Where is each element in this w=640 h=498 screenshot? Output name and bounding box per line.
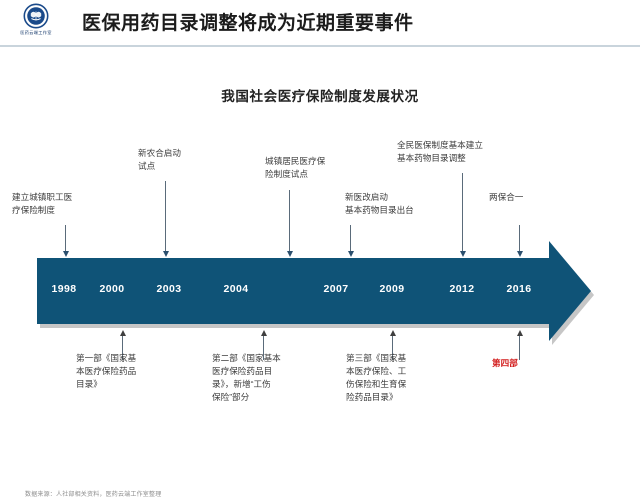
event-above-2016: 两保合一: [489, 191, 559, 204]
event-above-2003: 新农合启动 试点: [138, 147, 234, 173]
source-note: 数据来源：人社部相关资料，医药云端工作室整理: [25, 489, 161, 498]
timeline-arrow-tip: [549, 241, 591, 341]
timeline-year-2009: 2009: [380, 283, 405, 295]
event-arrow-head-2007: [287, 251, 293, 257]
catalog-below-2016: 第四部: [492, 357, 554, 370]
catalog-below-2000: 第一部《国家基 本医疗保险药品 目录》: [76, 352, 176, 391]
brand-logo: 医药云端工作室: [8, 3, 64, 43]
event-above-2007: 城镇居民医疗保 险制度试点: [265, 155, 369, 181]
event-arrow-line-1998: [65, 225, 66, 253]
event-arrow-line-2007: [289, 190, 290, 253]
timeline-year-2004: 2004: [224, 283, 249, 295]
brand-logo-caption: 医药云端工作室: [8, 30, 64, 36]
event-arrow-line-2012: [462, 173, 463, 253]
event-arrow-head-2003: [163, 251, 169, 257]
timeline-year-2007: 2007: [324, 283, 349, 295]
event-above-2012: 全民医保制度基本建立 基本药物目录调整: [397, 139, 522, 165]
event-arrow-head-2012: [460, 251, 466, 257]
catalog-below-2004: 第二部《国家基本 医疗保险药品目 录》，新增“工伤 保险”部分: [212, 352, 320, 404]
page-title: 医保用药目录调整将成为近期重要事件: [82, 8, 414, 35]
event-arrow-line-2016: [519, 225, 520, 253]
timeline-year-2016: 2016: [507, 283, 532, 295]
event-above-2009: 新医改启动 基本药物目录出台: [345, 191, 457, 217]
event-arrow-head-2009: [348, 251, 354, 257]
timeline-year-2012: 2012: [450, 283, 475, 295]
event-arrow-line-2003: [165, 181, 166, 253]
event-arrow-line-2009: [350, 225, 351, 253]
timeline-year-2003: 2003: [157, 283, 182, 295]
catalog-below-2009: 第三部《国家基 本医疗保险、工 伤保险和生育保 险药品目录》: [346, 352, 450, 404]
timeline-year-2000: 2000: [100, 283, 125, 295]
event-arrow-head-2016: [517, 251, 523, 257]
slide-body: 我国社会医疗保险制度发展状况 建立城镇职工医 疗保险制度 新农合启动 试点 城镇…: [0, 47, 640, 470]
timeline-year-1998: 1998: [52, 283, 77, 295]
chart-title: 我国社会医疗保险制度发展状况: [0, 85, 640, 105]
event-above-1998: 建立城镇职工医 疗保险制度: [12, 191, 108, 217]
page-header: 医药云端工作室 医保用药目录调整将成为近期重要事件: [0, 0, 640, 47]
medicine-cloud-logo-icon: [23, 3, 49, 29]
event-arrow-head-1998: [63, 251, 69, 257]
